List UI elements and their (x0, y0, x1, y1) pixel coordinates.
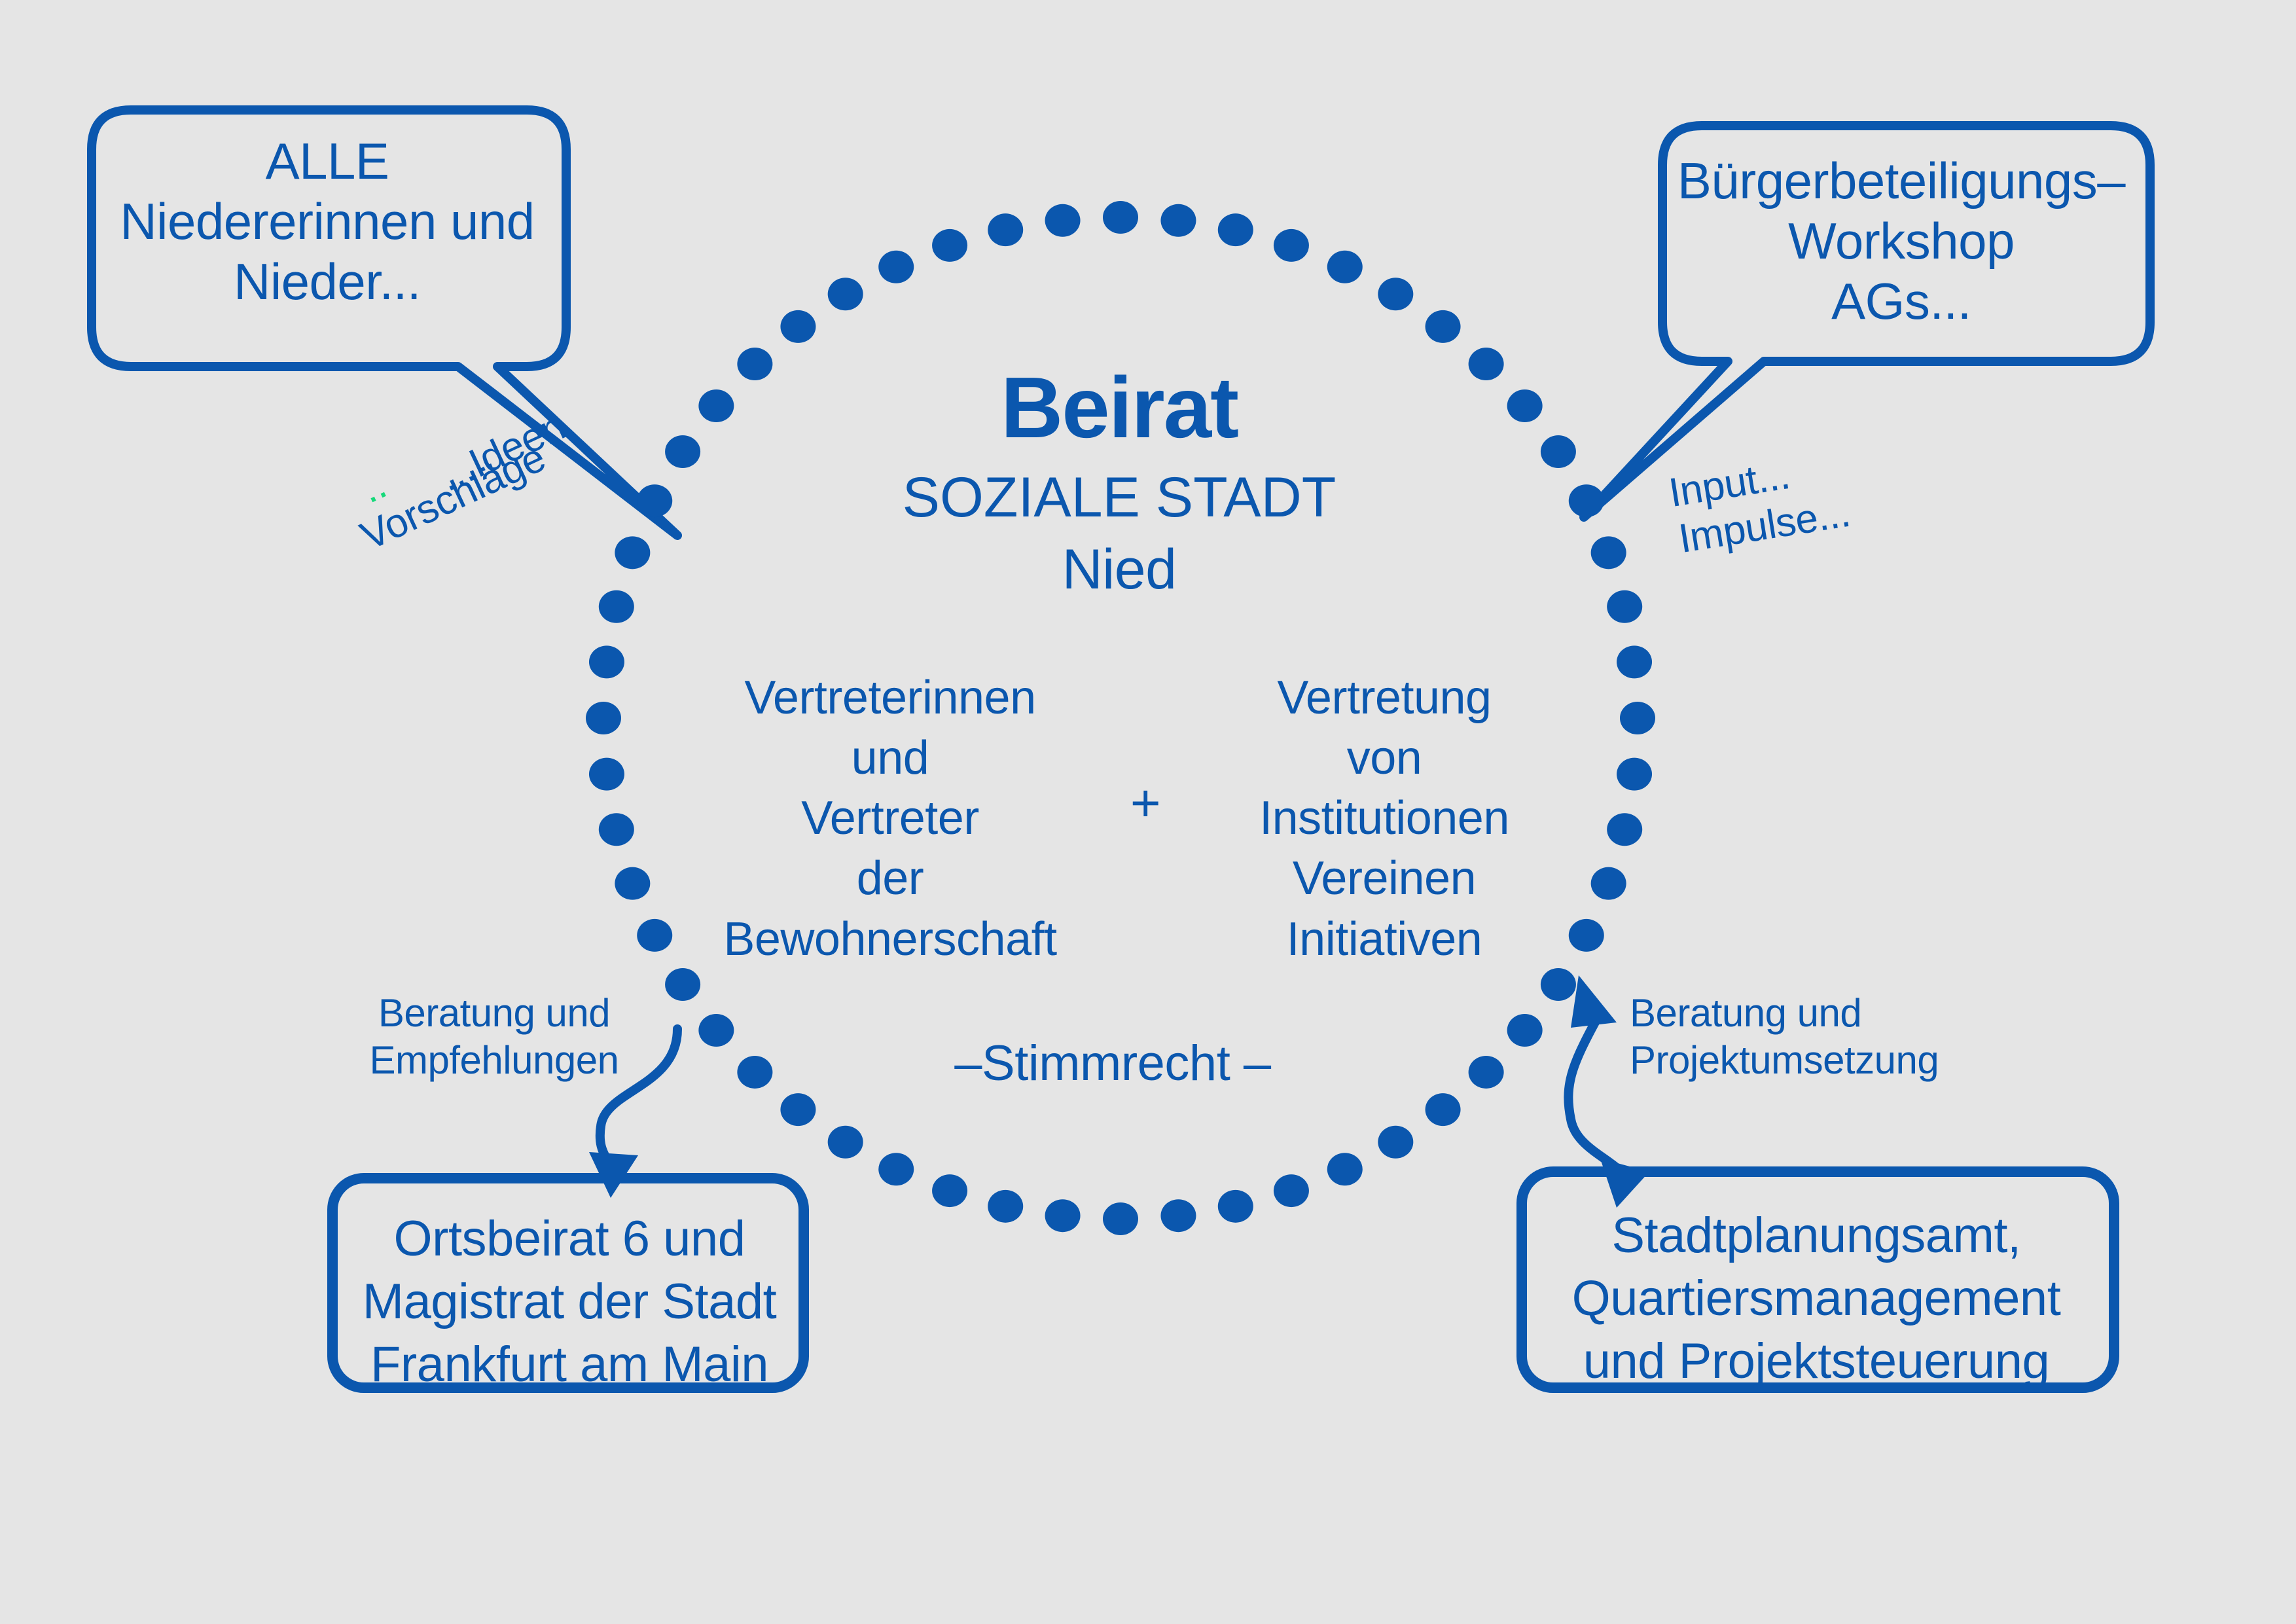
circle-dot (1274, 229, 1309, 262)
circle-dot (988, 1190, 1023, 1223)
circle-dot (988, 213, 1023, 246)
circle-dot (1569, 484, 1604, 517)
circle-dot (1541, 435, 1576, 468)
circle-dot (1591, 867, 1626, 900)
circle-dot (1274, 1174, 1309, 1207)
circle-dot (1327, 251, 1363, 283)
circle-dot (1103, 201, 1138, 234)
circle-dot (1045, 204, 1081, 237)
circle-dot (586, 702, 621, 734)
bubble-top-right-label: Bürgerbeteiligungs– Workshop AGs... (1666, 151, 2137, 331)
circle-dot (698, 389, 734, 422)
circle-dot (1469, 348, 1504, 380)
circle-dot (932, 1174, 967, 1207)
circle-dot (637, 484, 672, 517)
circle-dot (737, 1056, 772, 1089)
circle-dot (637, 919, 672, 952)
circle-dot (1426, 1093, 1461, 1126)
circle-dot (1617, 645, 1652, 678)
circle-dot (828, 1126, 863, 1159)
circle-dot (1378, 1126, 1413, 1159)
circle-dot (1218, 213, 1253, 246)
circle-dot (1045, 1199, 1081, 1232)
circle-dot (1541, 968, 1576, 1001)
center-column-left: Vertreterinnen und Vertreter der Bewohne… (687, 668, 1093, 969)
circle-dot (1607, 590, 1642, 623)
circle-dot (932, 229, 967, 262)
circle-dot (698, 1014, 734, 1047)
arrow-label-bottom-right: Beratung und Projektumsetzung (1630, 990, 1957, 1084)
center-subtitle-line1: SOZIALE STADT (772, 465, 1466, 531)
circle-dot (599, 813, 634, 846)
circle-dot (1569, 919, 1604, 952)
circle-dot (1160, 204, 1196, 237)
plus-operator: + (1086, 772, 1204, 834)
circle-dot (615, 867, 650, 900)
bubble-top-left-label: ALLE Niedererinnen und Nieder... (92, 131, 563, 312)
center-subtitle-line2: Nied (772, 537, 1466, 603)
circle-dot (1507, 389, 1543, 422)
circle-dot (665, 968, 700, 1001)
circle-dot (1103, 1202, 1138, 1235)
circle-dot (1378, 278, 1413, 310)
circle-dot (737, 348, 772, 380)
circle-dot (1218, 1190, 1253, 1223)
circle-dot (589, 645, 624, 678)
circle-dot (589, 758, 624, 791)
circle-dot (780, 310, 816, 343)
circle-dot (828, 278, 863, 310)
circle-dot (1607, 813, 1642, 846)
circle-dot (780, 1093, 816, 1126)
circle-dot (1469, 1056, 1504, 1089)
circle-dot (878, 1153, 914, 1185)
diagram-canvas: ALLE Niedererinnen und Nieder... Bürgerb… (0, 0, 2296, 1624)
stimmrecht-footnote: –Stimmrecht – (910, 1034, 1316, 1093)
circle-dot (1507, 1014, 1543, 1047)
arrow-label-bottom-left: Beratung und Empfehlungen (357, 990, 632, 1084)
box-bottom-right-label: Stadtplanungsamt, Quartiersmanagement un… (1522, 1204, 2111, 1392)
circle-dot (1327, 1153, 1363, 1185)
circle-dot (878, 251, 914, 283)
box-bottom-left-label: Ortsbeirat 6 und Magistrat der Stadt Fra… (337, 1208, 802, 1396)
circle-dot (1160, 1199, 1196, 1232)
center-column-right: Vertretung von Institutionen Vereinen In… (1201, 668, 1568, 969)
circle-dot (1620, 702, 1655, 734)
circle-dot (1426, 310, 1461, 343)
center-title: Beirat (772, 357, 1466, 459)
circle-dot (1591, 536, 1626, 569)
circle-dot (615, 536, 650, 569)
circle-dot (665, 435, 700, 468)
circle-dot (599, 590, 634, 623)
circle-dot (1617, 758, 1652, 791)
